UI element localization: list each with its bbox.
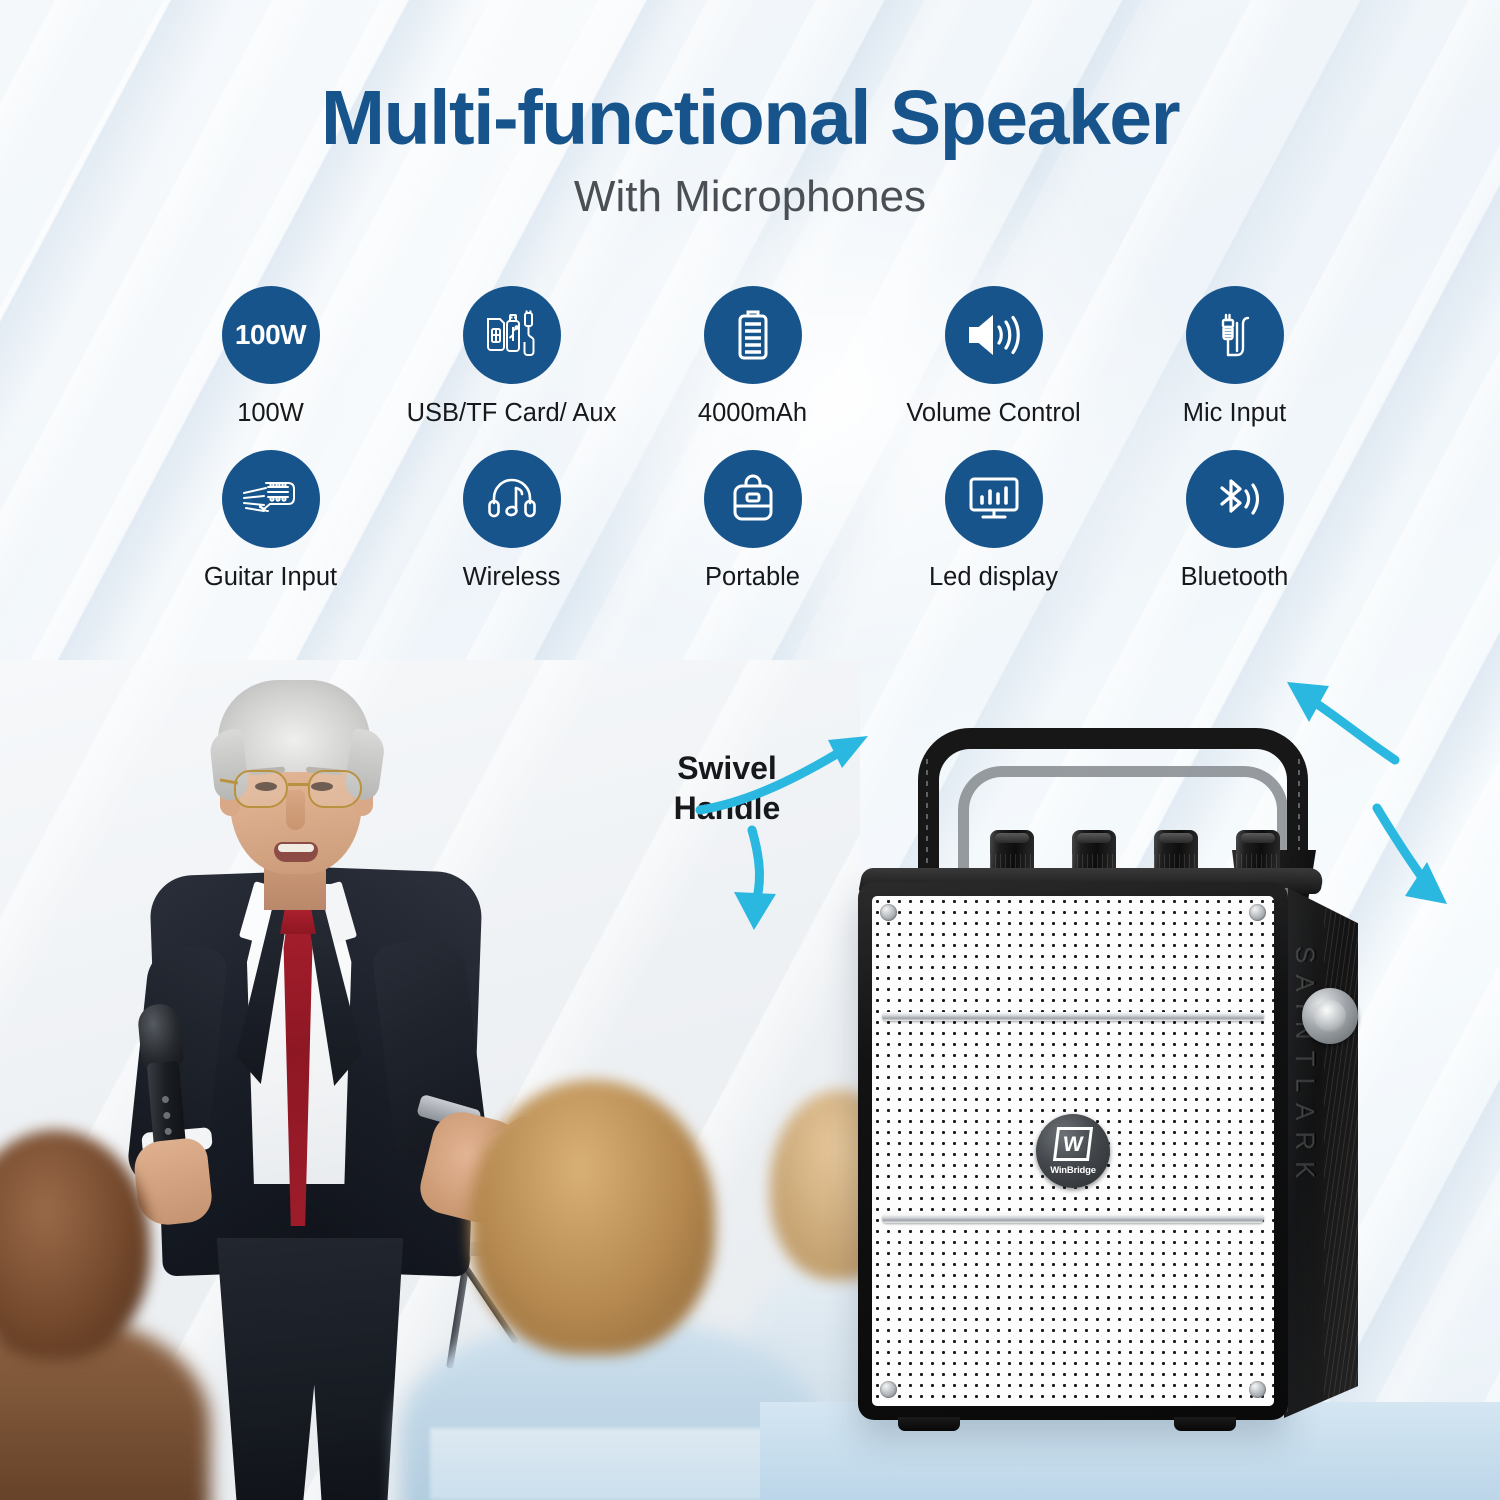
usb-tf-aux-icon bbox=[463, 286, 561, 384]
feature-grid: 100W 100W bbox=[150, 286, 1355, 592]
feature-label-100w: 100W bbox=[237, 398, 304, 428]
mic-jack-cable-icon bbox=[1186, 286, 1284, 384]
feature-row-1: 100W 100W bbox=[150, 286, 1355, 428]
winbridge-brand-badge: W WinBridge bbox=[1036, 1114, 1110, 1188]
carry-bag-icon bbox=[704, 450, 802, 548]
feature-item-wireless[interactable]: Wireless bbox=[391, 450, 632, 592]
speaker-cabinet: W WinBridge bbox=[858, 882, 1288, 1420]
power-100w-badge-text: 100W bbox=[235, 319, 306, 351]
speaker-screw-top-left bbox=[880, 904, 897, 921]
feature-label-usb-tf-aux: USB/TF Card/ Aux bbox=[407, 398, 617, 428]
page-subtitle: With Microphones bbox=[0, 172, 1500, 222]
speaker-side-panel: SAINTLARK bbox=[1284, 886, 1358, 1418]
feature-row-2: Guitar Input Wireless bbox=[150, 450, 1355, 592]
speaker-foot-left bbox=[898, 1417, 960, 1431]
monitor-display-icon bbox=[945, 450, 1043, 548]
glasses-lens-right bbox=[308, 770, 362, 808]
feature-label-guitar-input: Guitar Input bbox=[204, 562, 337, 592]
speaker-side-ribs bbox=[1324, 886, 1358, 1418]
microphone-head bbox=[137, 1002, 184, 1067]
feature-item-usb-tf-aux[interactable]: USB/TF Card/ Aux bbox=[391, 286, 632, 428]
feature-label-wireless: Wireless bbox=[463, 562, 561, 592]
headphones-music-note-icon bbox=[463, 450, 561, 548]
volume-speaker-icon bbox=[945, 286, 1043, 384]
feature-label-portable: Portable bbox=[705, 562, 800, 592]
presenter-teeth bbox=[278, 844, 314, 852]
feature-item-100w[interactable]: 100W 100W bbox=[150, 286, 391, 428]
speaker-screw-bottom-left bbox=[880, 1381, 897, 1398]
audience-member-2-head bbox=[470, 1080, 715, 1355]
feature-item-mic-input[interactable]: Mic Input bbox=[1114, 286, 1355, 428]
product-infographic-canvas: Multi-functional Speaker With Microphone… bbox=[0, 0, 1500, 1500]
glasses-bridge bbox=[288, 783, 310, 786]
portable-speaker-product: SAINTLARK W WinBridge bbox=[840, 700, 1400, 1460]
speaker-side-brand-emboss: SAINTLARK bbox=[1290, 946, 1321, 1190]
feature-item-bluetooth[interactable]: Bluetooth bbox=[1114, 450, 1355, 592]
speaker-grille-bar-bottom bbox=[882, 1214, 1264, 1223]
feature-item-volume-control[interactable]: Volume Control bbox=[873, 286, 1114, 428]
glasses-lens-left bbox=[234, 770, 288, 808]
feature-label-mic-input: Mic Input bbox=[1183, 398, 1286, 428]
bluetooth-waves-icon bbox=[1186, 450, 1284, 548]
feature-item-guitar-input[interactable]: Guitar Input bbox=[150, 450, 391, 592]
feature-item-battery[interactable]: 4000mAh bbox=[632, 286, 873, 428]
feature-label-battery: 4000mAh bbox=[698, 398, 807, 428]
speaker-screw-bottom-right bbox=[1249, 1381, 1266, 1398]
presenter-glasses bbox=[234, 770, 362, 810]
speaker-grille-bar-top bbox=[882, 1012, 1264, 1021]
feature-item-led-display[interactable]: Led display bbox=[873, 450, 1114, 592]
presenter-trousers bbox=[204, 1238, 416, 1500]
speaker-handle-pivot-knob[interactable] bbox=[1302, 988, 1358, 1044]
guitar-headstock-icon bbox=[222, 450, 320, 548]
speaker-front-grille: W WinBridge bbox=[872, 896, 1274, 1406]
page-title: Multi-functional Speaker bbox=[0, 78, 1500, 158]
winbridge-brand-name: WinBridge bbox=[1050, 1165, 1096, 1176]
battery-icon bbox=[704, 286, 802, 384]
winbridge-w-mark: W bbox=[1053, 1127, 1093, 1161]
speaker-foot-right bbox=[1174, 1417, 1236, 1431]
power-100w-icon: 100W bbox=[222, 286, 320, 384]
feature-label-led-display: Led display bbox=[929, 562, 1058, 592]
feature-label-bluetooth: Bluetooth bbox=[1181, 562, 1289, 592]
header: Multi-functional Speaker With Microphone… bbox=[0, 78, 1500, 222]
feature-item-portable[interactable]: Portable bbox=[632, 450, 873, 592]
feature-label-volume-control: Volume Control bbox=[906, 398, 1080, 428]
speaker-screw-top-right bbox=[1249, 904, 1266, 921]
